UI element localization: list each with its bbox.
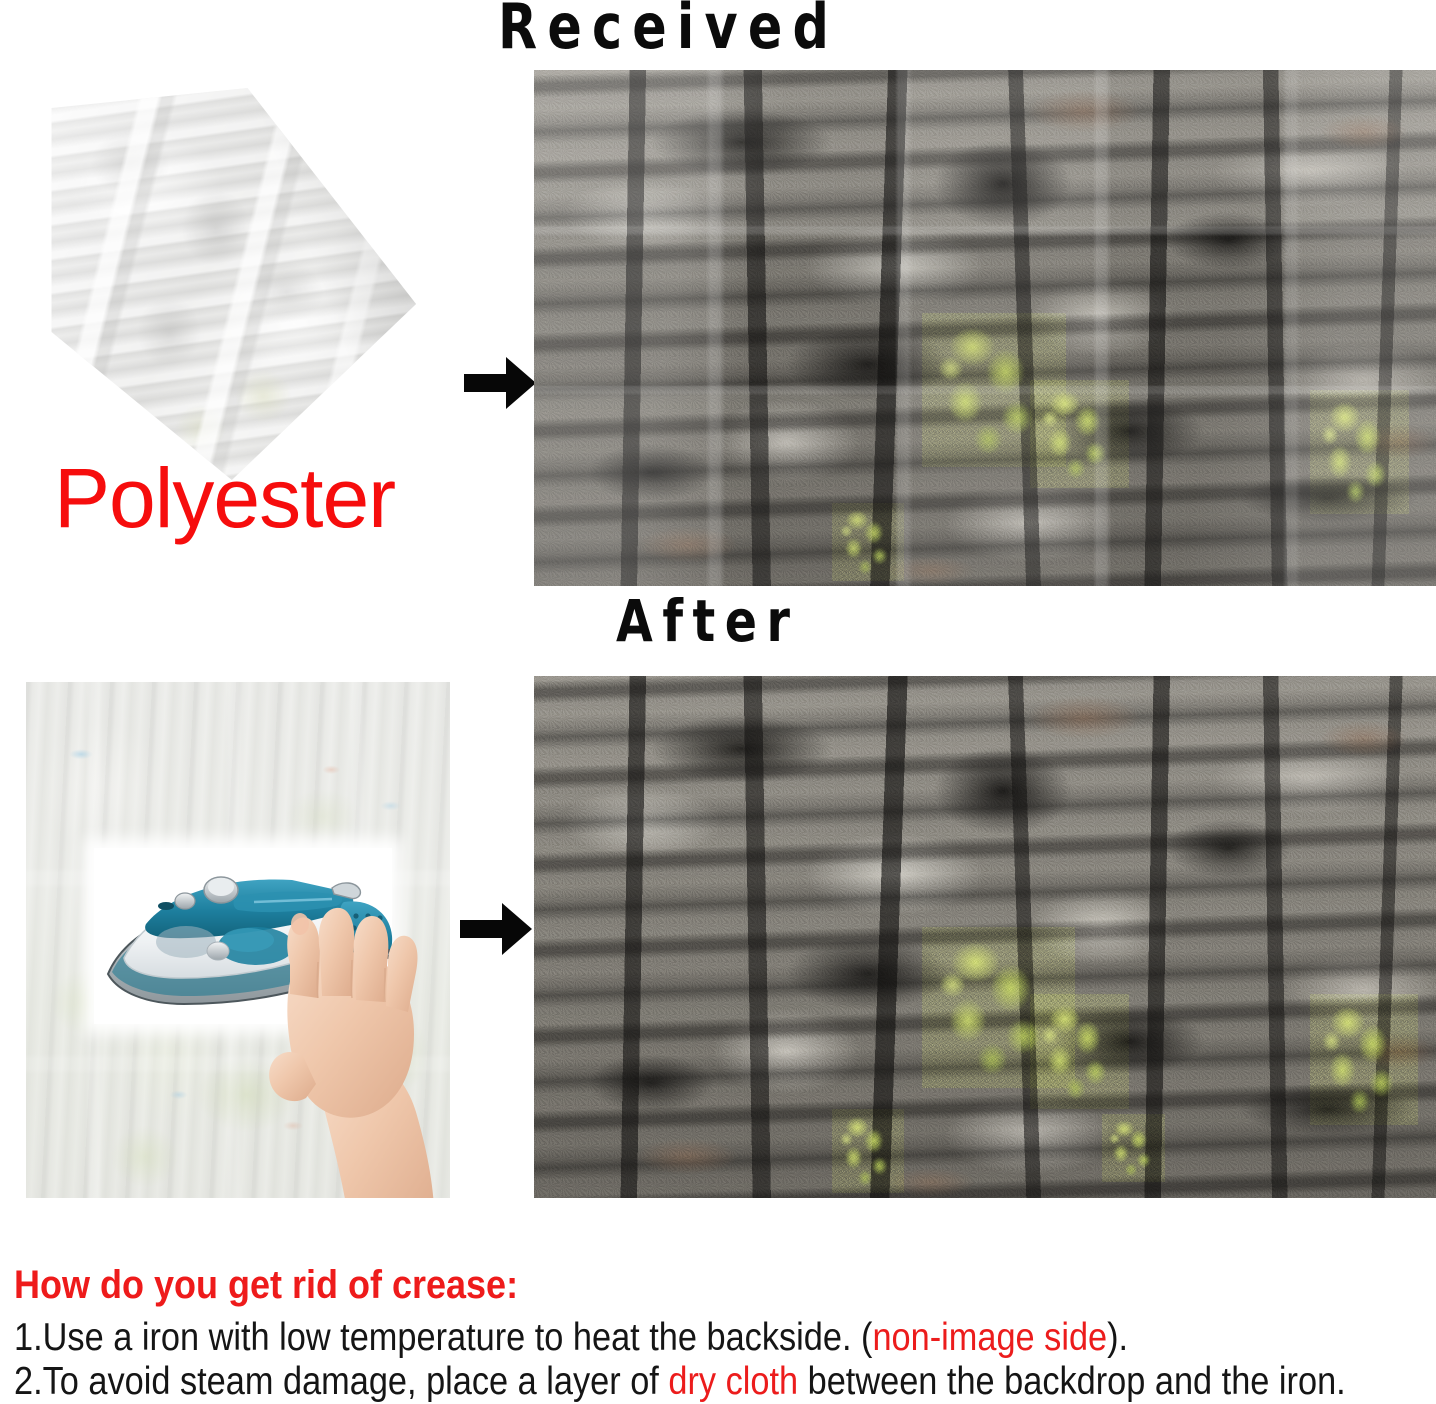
after-backdrop-photo [534,676,1436,1198]
ironing-demo-panel [26,682,450,1198]
rock-wall-texture [534,70,1436,586]
received-backdrop-photo [534,70,1436,586]
step-1-text-after: ). [1107,1316,1128,1359]
hand-icon [254,902,450,1198]
step-1-number: 1. [14,1316,43,1359]
polyester-label: Polyester [54,455,395,541]
step-2-number: 2. [14,1360,43,1403]
fabric-shadow [28,84,420,484]
step-2-text-after: between the backdrop and the iron. [798,1360,1346,1403]
step-1-text-before: Use a iron with low temperature to heat … [43,1316,873,1359]
after-section-title: After [616,592,800,650]
instruction-step-2: 2.To avoid steam damage, place a layer o… [14,1360,1264,1404]
instruction-step-1: 1.Use a iron with low temperature to hea… [14,1316,1264,1360]
rock-grain-layer [534,70,1436,586]
step-2-highlight: dry cloth [668,1360,798,1403]
step-2-text-before: To avoid steam damage, place a layer of [43,1360,669,1403]
step-1-highlight: non-image side [872,1316,1107,1359]
rock-grain-layer [534,676,1436,1198]
folded-fabric-icon [28,84,420,484]
instructions-heading: How do you get rid of crease: [14,1262,1292,1308]
right-arrow-icon [458,898,534,960]
rock-wall-texture [534,676,1436,1198]
received-section-title: Received [498,0,839,58]
iron-photo-card [94,848,392,1024]
right-arrow-icon [462,352,538,414]
care-instructions: How do you get rid of crease: 1.Use a ir… [14,1262,1434,1404]
